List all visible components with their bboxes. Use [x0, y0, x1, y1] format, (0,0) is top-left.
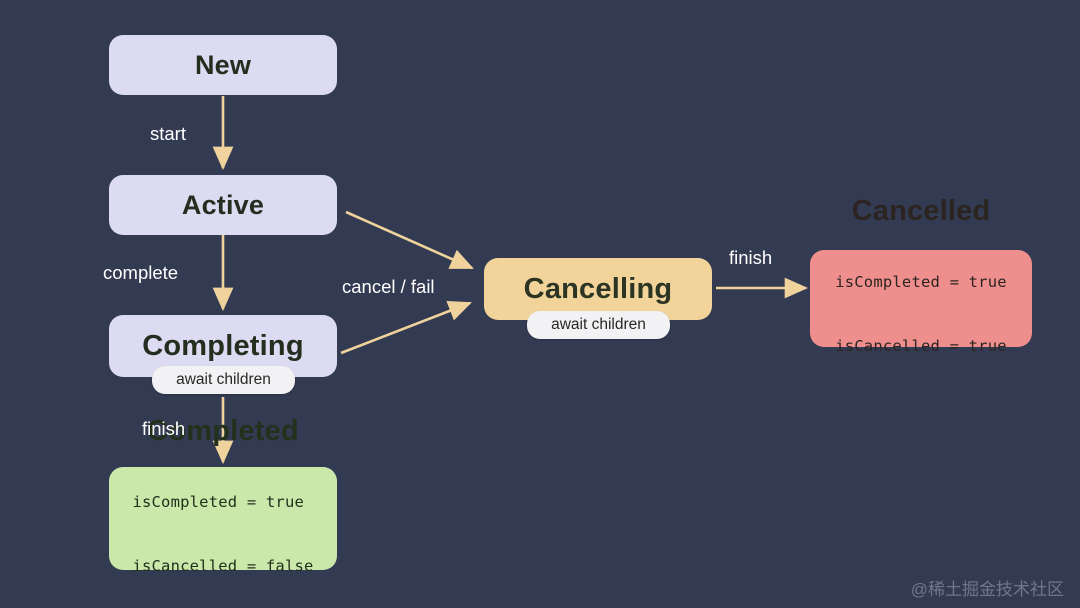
- watermark: @稀土掘金技术社区: [911, 581, 1064, 598]
- state-node-cancelling-sublabel: await children: [551, 317, 646, 333]
- property-line: isCompleted = true: [835, 272, 1007, 293]
- state-node-completed[interactable]: Completed isCompleted = true isCancelled…: [109, 467, 337, 570]
- state-node-active-label: Active: [182, 192, 264, 219]
- state-node-cancelled-label: Cancelled: [852, 197, 991, 226]
- state-node-cancelled-properties: isCompleted = true isCancelled = true: [835, 230, 1007, 401]
- state-node-new-label: New: [195, 52, 251, 79]
- state-node-completing-sublabel: await children: [176, 372, 271, 388]
- edge-label-finish-cancelled: finish: [729, 249, 772, 268]
- edge-completing-cancelling: [341, 303, 470, 353]
- state-node-completed-properties: isCompleted = true isCancelled = false: [132, 450, 313, 608]
- edge-label-finish-completed: finish: [142, 420, 185, 439]
- state-node-completing-sublabel-pill: await children: [152, 366, 295, 394]
- diagram-canvas: New Active Completing await children Com…: [0, 0, 1080, 608]
- edge-label-cancel-fail: cancel / fail: [342, 278, 435, 297]
- state-node-active[interactable]: Active: [109, 175, 337, 235]
- state-node-cancelling-sublabel-pill: await children: [527, 311, 670, 339]
- property-line: isCancelled = false: [132, 556, 313, 577]
- state-node-cancelling-label: Cancelling: [524, 275, 673, 304]
- state-node-completing-label: Completing: [142, 332, 304, 361]
- property-line: isCancelled = true: [835, 336, 1007, 357]
- property-line: isCompleted = true: [132, 492, 313, 513]
- state-node-new[interactable]: New: [109, 35, 337, 95]
- edge-label-complete: complete: [103, 264, 178, 283]
- edge-active-cancelling: [346, 212, 472, 268]
- edge-label-start: start: [150, 125, 186, 144]
- state-node-cancelled[interactable]: Cancelled isCompleted = true isCancelled…: [810, 250, 1032, 347]
